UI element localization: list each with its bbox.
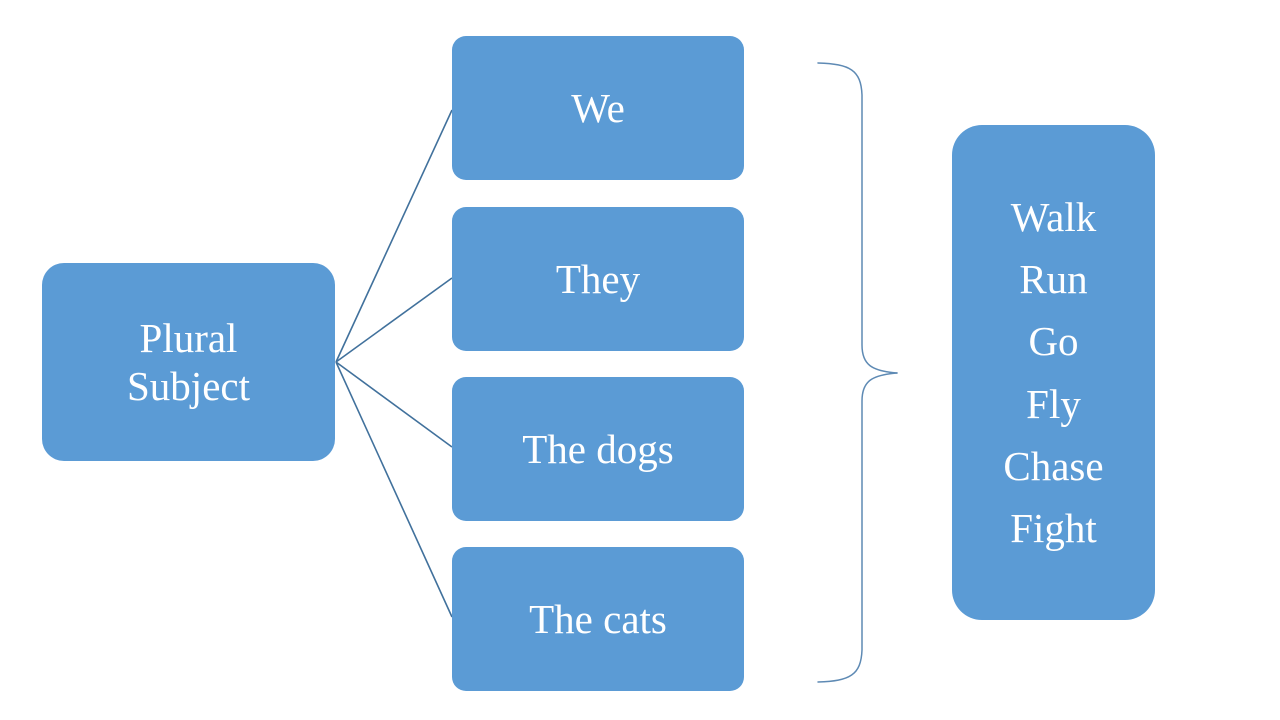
node-verb-list[interactable]: Walk Run Go Fly Chase Fight [952, 125, 1155, 620]
verb-item-run: Run [1019, 248, 1087, 310]
node-subject-the-cats-label: The cats [529, 595, 667, 643]
connector-line-the-cats [336, 362, 452, 617]
verb-item-walk: Walk [1011, 186, 1097, 248]
verb-item-fight: Fight [1010, 497, 1097, 559]
node-plural-subject-label-line1: Plural [127, 314, 250, 362]
node-subject-they[interactable]: They [452, 207, 744, 351]
connector-line-we [336, 110, 452, 362]
node-subject-we[interactable]: We [452, 36, 744, 180]
node-plural-subject[interactable]: Plural Subject [42, 263, 335, 461]
brace-lower-half [818, 373, 897, 682]
node-subject-they-label: They [556, 255, 640, 303]
connector-lines [336, 110, 452, 617]
connector-line-the-dogs [336, 362, 452, 447]
node-plural-subject-label-line2: Subject [127, 362, 250, 410]
node-plural-subject-label: Plural Subject [127, 314, 250, 411]
node-subject-the-dogs-label: The dogs [522, 425, 673, 473]
verb-item-fly: Fly [1026, 373, 1081, 435]
brace-upper-half [818, 63, 897, 373]
diagram-canvas: Plural Subject We They The dogs The cats… [0, 0, 1280, 720]
node-subject-we-label: We [571, 84, 625, 132]
connector-line-they [336, 278, 452, 362]
node-subject-the-cats[interactable]: The cats [452, 547, 744, 691]
verb-item-go: Go [1028, 310, 1078, 372]
grouping-brace [818, 63, 897, 682]
verb-item-chase: Chase [1003, 435, 1103, 497]
node-subject-the-dogs[interactable]: The dogs [452, 377, 744, 521]
